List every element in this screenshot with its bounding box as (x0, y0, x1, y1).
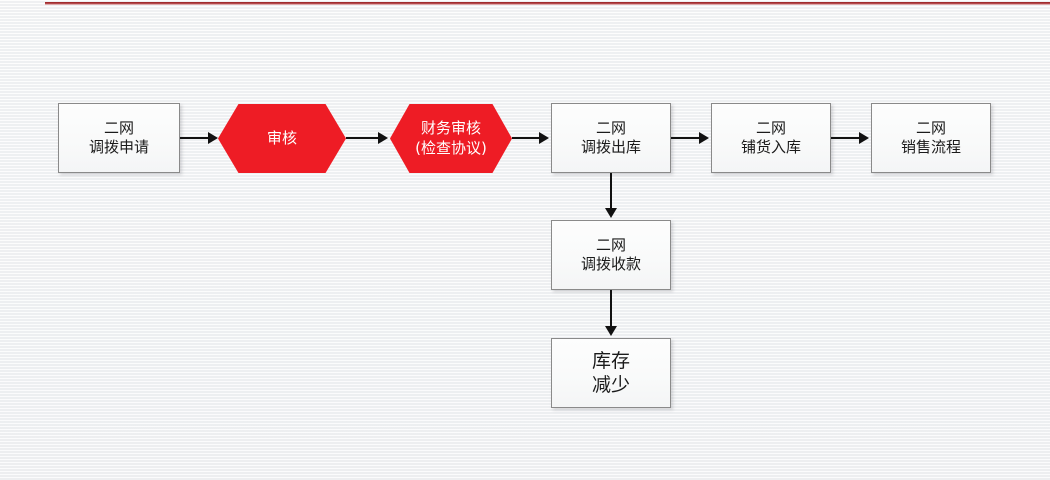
edge-apply-to-review-arrow (208, 132, 218, 144)
top-red-rule (45, 2, 1050, 5)
node-sales-process[interactable]: 二网 销售流程 (871, 103, 991, 173)
node-stock-decrease[interactable]: 库存 减少 (551, 338, 671, 408)
edge-stockin-to-sales-line (831, 137, 861, 139)
edge-finance-to-out-arrow (539, 132, 549, 144)
edge-stockin-to-sales-arrow (859, 132, 869, 144)
edge-review-to-finance-arrow (378, 132, 388, 144)
edge-receipt-to-decrease-line (610, 290, 612, 329)
edge-out-to-receipt-arrow (605, 208, 617, 218)
edge-out-to-receipt-line (610, 173, 612, 211)
edge-receipt-to-decrease-arrow (605, 326, 617, 336)
flowchart-canvas: 二网 调拨申请 审核 财务审核 (检查协议) 二网 调拨出库 二网 铺货入库 二… (0, 0, 1050, 480)
node-finance-review[interactable]: 财务审核 (检查协议) (390, 104, 512, 173)
edge-finance-to-out-line (512, 137, 542, 139)
node-apply[interactable]: 二网 调拨申请 (58, 103, 180, 173)
edge-out-to-stockin-arrow (699, 132, 709, 144)
edge-out-to-stockin-line (671, 137, 701, 139)
node-transfer-out[interactable]: 二网 调拨出库 (551, 103, 671, 173)
node-transfer-receipt[interactable]: 二网 调拨收款 (551, 220, 671, 290)
edge-review-to-finance-line (346, 137, 380, 139)
node-review[interactable]: 审核 (218, 104, 346, 173)
node-stock-in[interactable]: 二网 铺货入库 (711, 103, 831, 173)
